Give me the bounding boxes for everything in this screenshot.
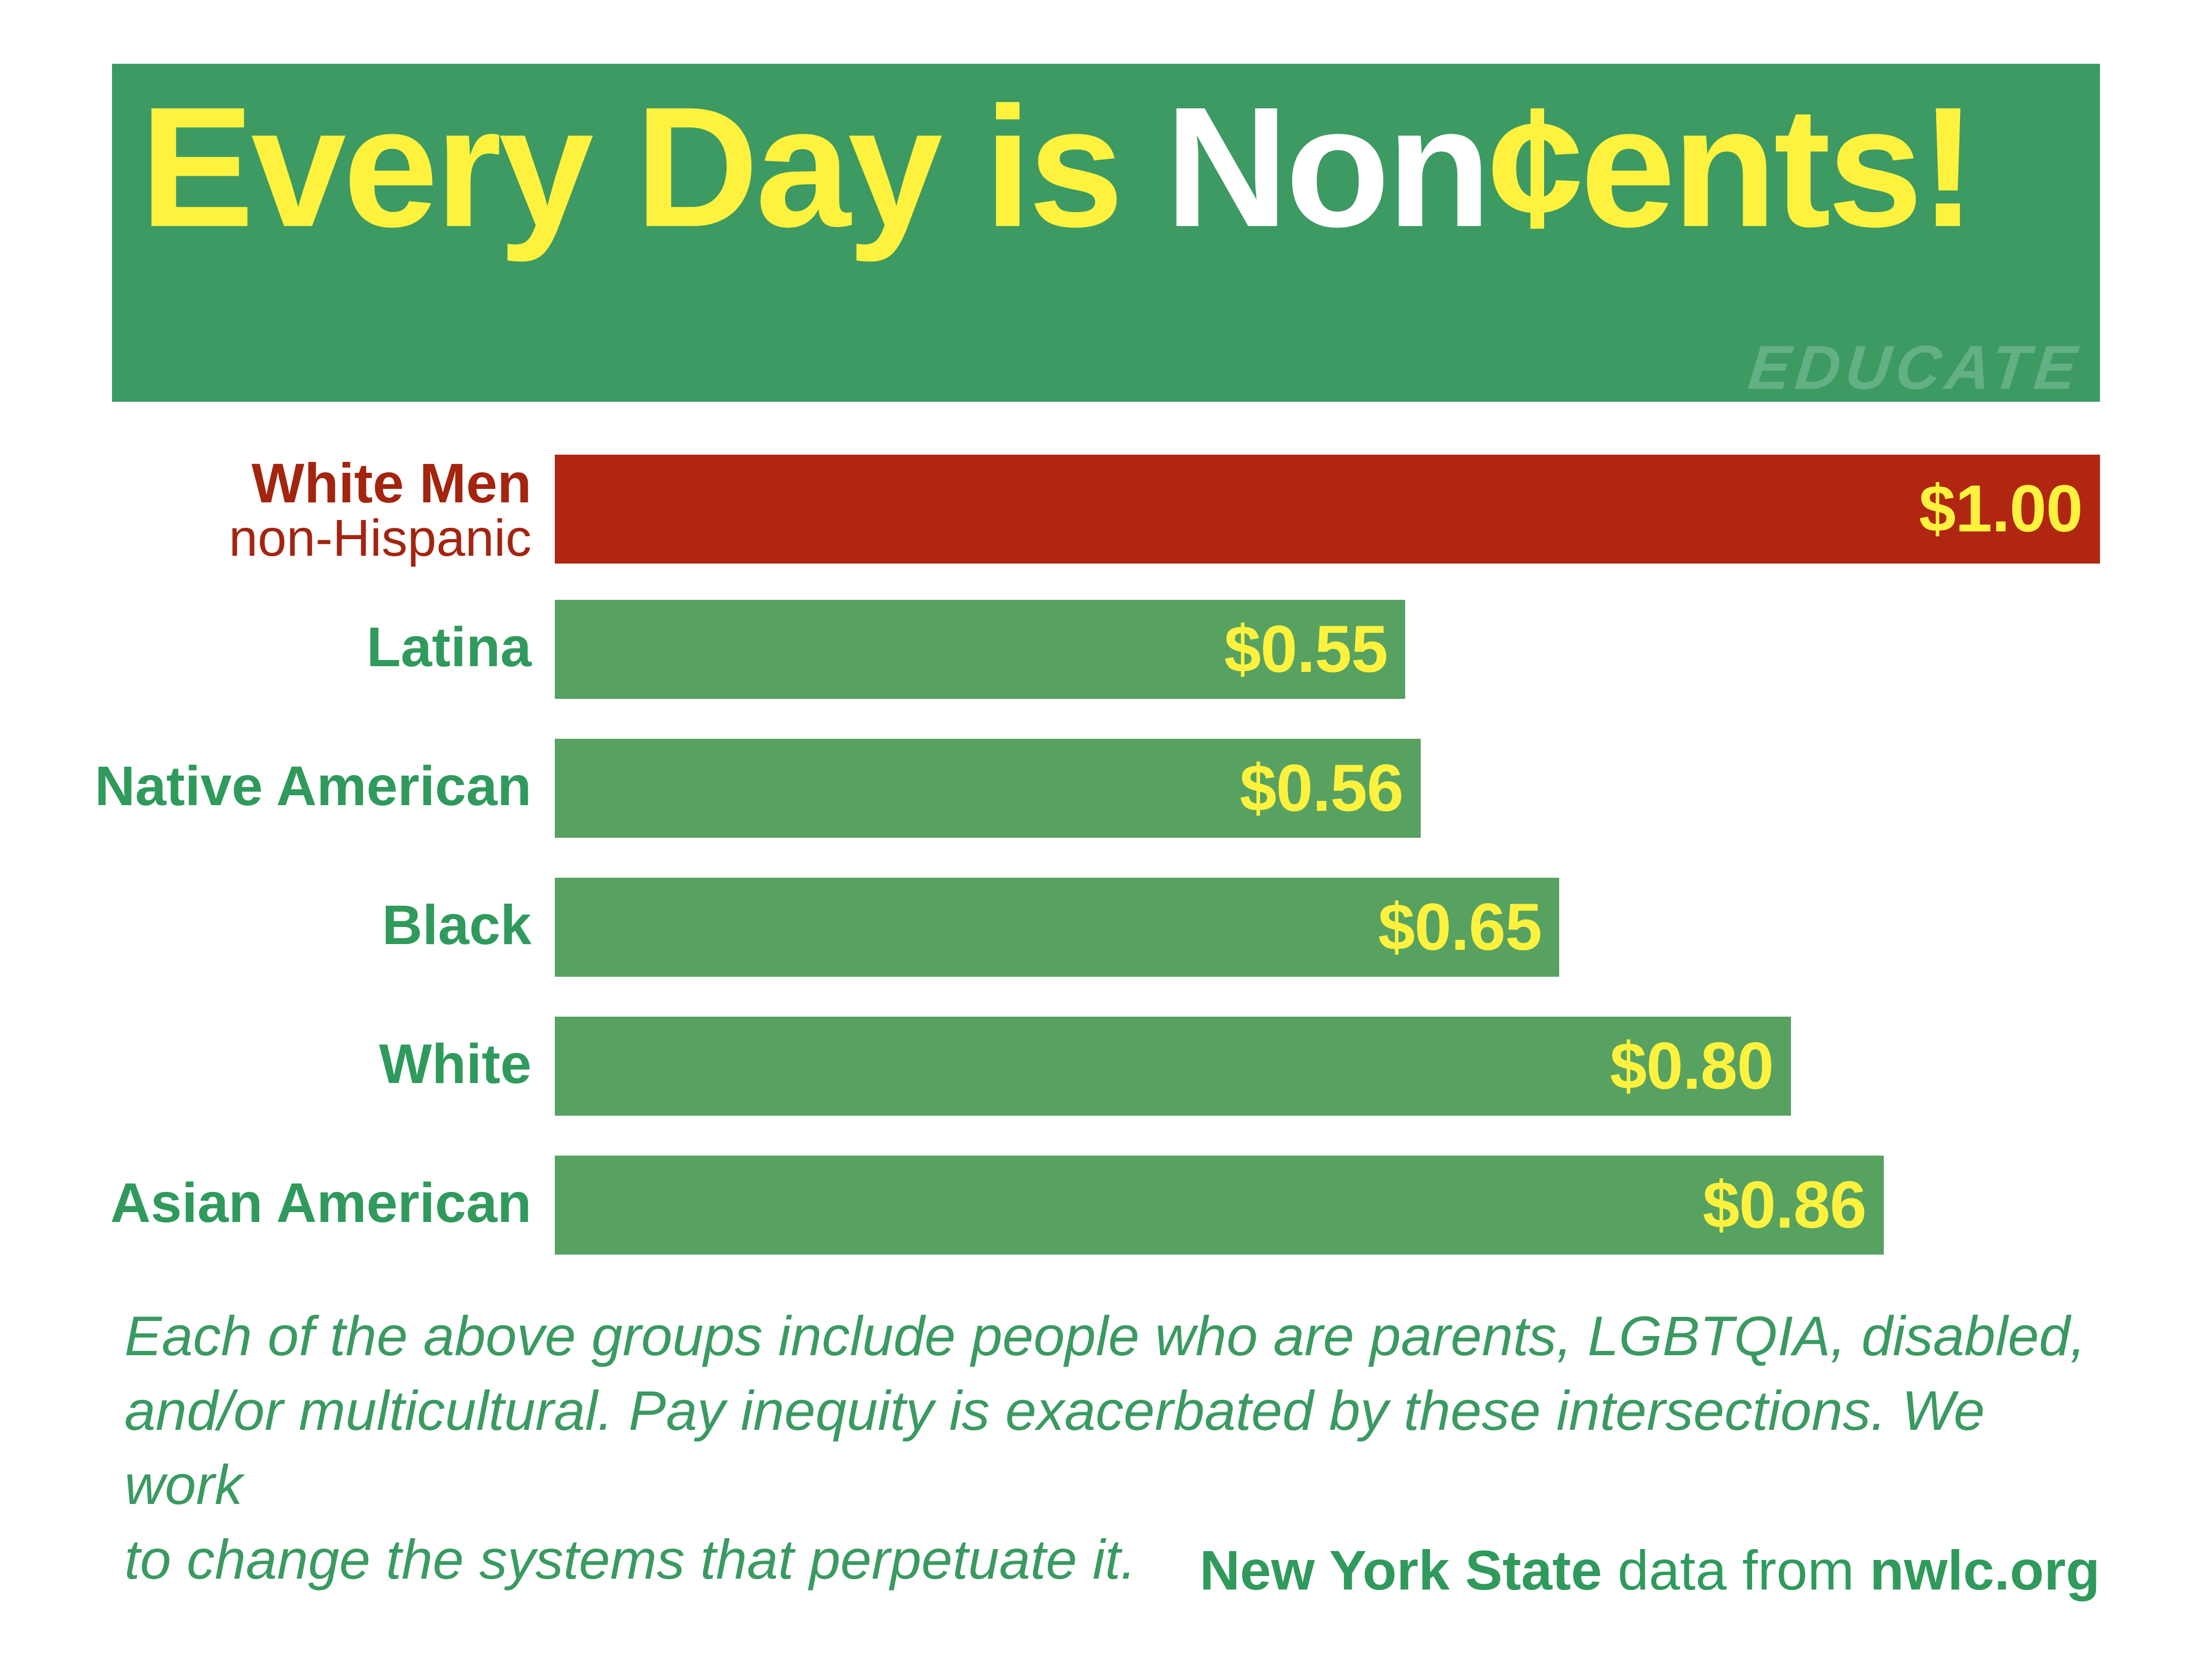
bar-value-label: $0.80 bbox=[1610, 1033, 1791, 1100]
bar-category-label: White bbox=[379, 1035, 531, 1092]
bar-category-label-line2: non-Hispanic bbox=[229, 512, 531, 565]
bar-category-label: Black bbox=[382, 896, 531, 953]
footnote-line-2: and/or multicultural. Pay inequity is ex… bbox=[124, 1373, 2105, 1522]
header-banner: Every Day is Non¢ents! EDUCATE bbox=[112, 64, 2100, 402]
source-link[interactable]: nwlc.org bbox=[1870, 1539, 2100, 1601]
bar-category-label: Asian American bbox=[110, 1174, 531, 1231]
title-text-non: Non bbox=[1165, 71, 1488, 262]
bar-category-label-line1: White Men bbox=[229, 455, 531, 512]
source-state: New York State bbox=[1199, 1539, 1602, 1601]
bar-white: $0.80 bbox=[555, 1017, 1791, 1116]
bar-value-label: $0.56 bbox=[1240, 755, 1421, 822]
bar-value-label: $0.55 bbox=[1224, 616, 1405, 683]
source-connector: data from bbox=[1602, 1539, 1870, 1601]
pay-gap-bar-chart: White Men non-Hispanic $1.00 Latina $0.5… bbox=[0, 443, 2212, 1278]
footnote-line-1: Each of the above groups include people … bbox=[124, 1299, 2105, 1373]
bar-asian-american: $0.86 bbox=[555, 1156, 1884, 1255]
title-text-part1: Every Day is bbox=[140, 71, 1165, 262]
educate-watermark: EDUCATE bbox=[1746, 336, 2085, 399]
bar-black: $0.65 bbox=[555, 878, 1559, 977]
bar-white-men: $1.00 bbox=[555, 455, 2100, 564]
source-attribution: New York State data from nwlc.org bbox=[1199, 1542, 2100, 1598]
bar-value-label: $0.86 bbox=[1703, 1172, 1884, 1239]
cent-symbol: ¢ bbox=[1488, 71, 1580, 262]
bar-value-label: $0.65 bbox=[1378, 894, 1559, 961]
bar-latina: $0.55 bbox=[555, 600, 1405, 699]
bar-category-label: White Men non-Hispanic bbox=[229, 455, 531, 565]
bar-category-label: Latina bbox=[367, 618, 531, 676]
title-text-part2: ents! bbox=[1580, 71, 1973, 262]
bar-native-american: $0.56 bbox=[555, 739, 1421, 838]
page-title: Every Day is Non¢ents! bbox=[140, 81, 1973, 252]
bar-category-label: Native American bbox=[95, 757, 531, 814]
bar-value-label: $1.00 bbox=[1919, 476, 2100, 542]
